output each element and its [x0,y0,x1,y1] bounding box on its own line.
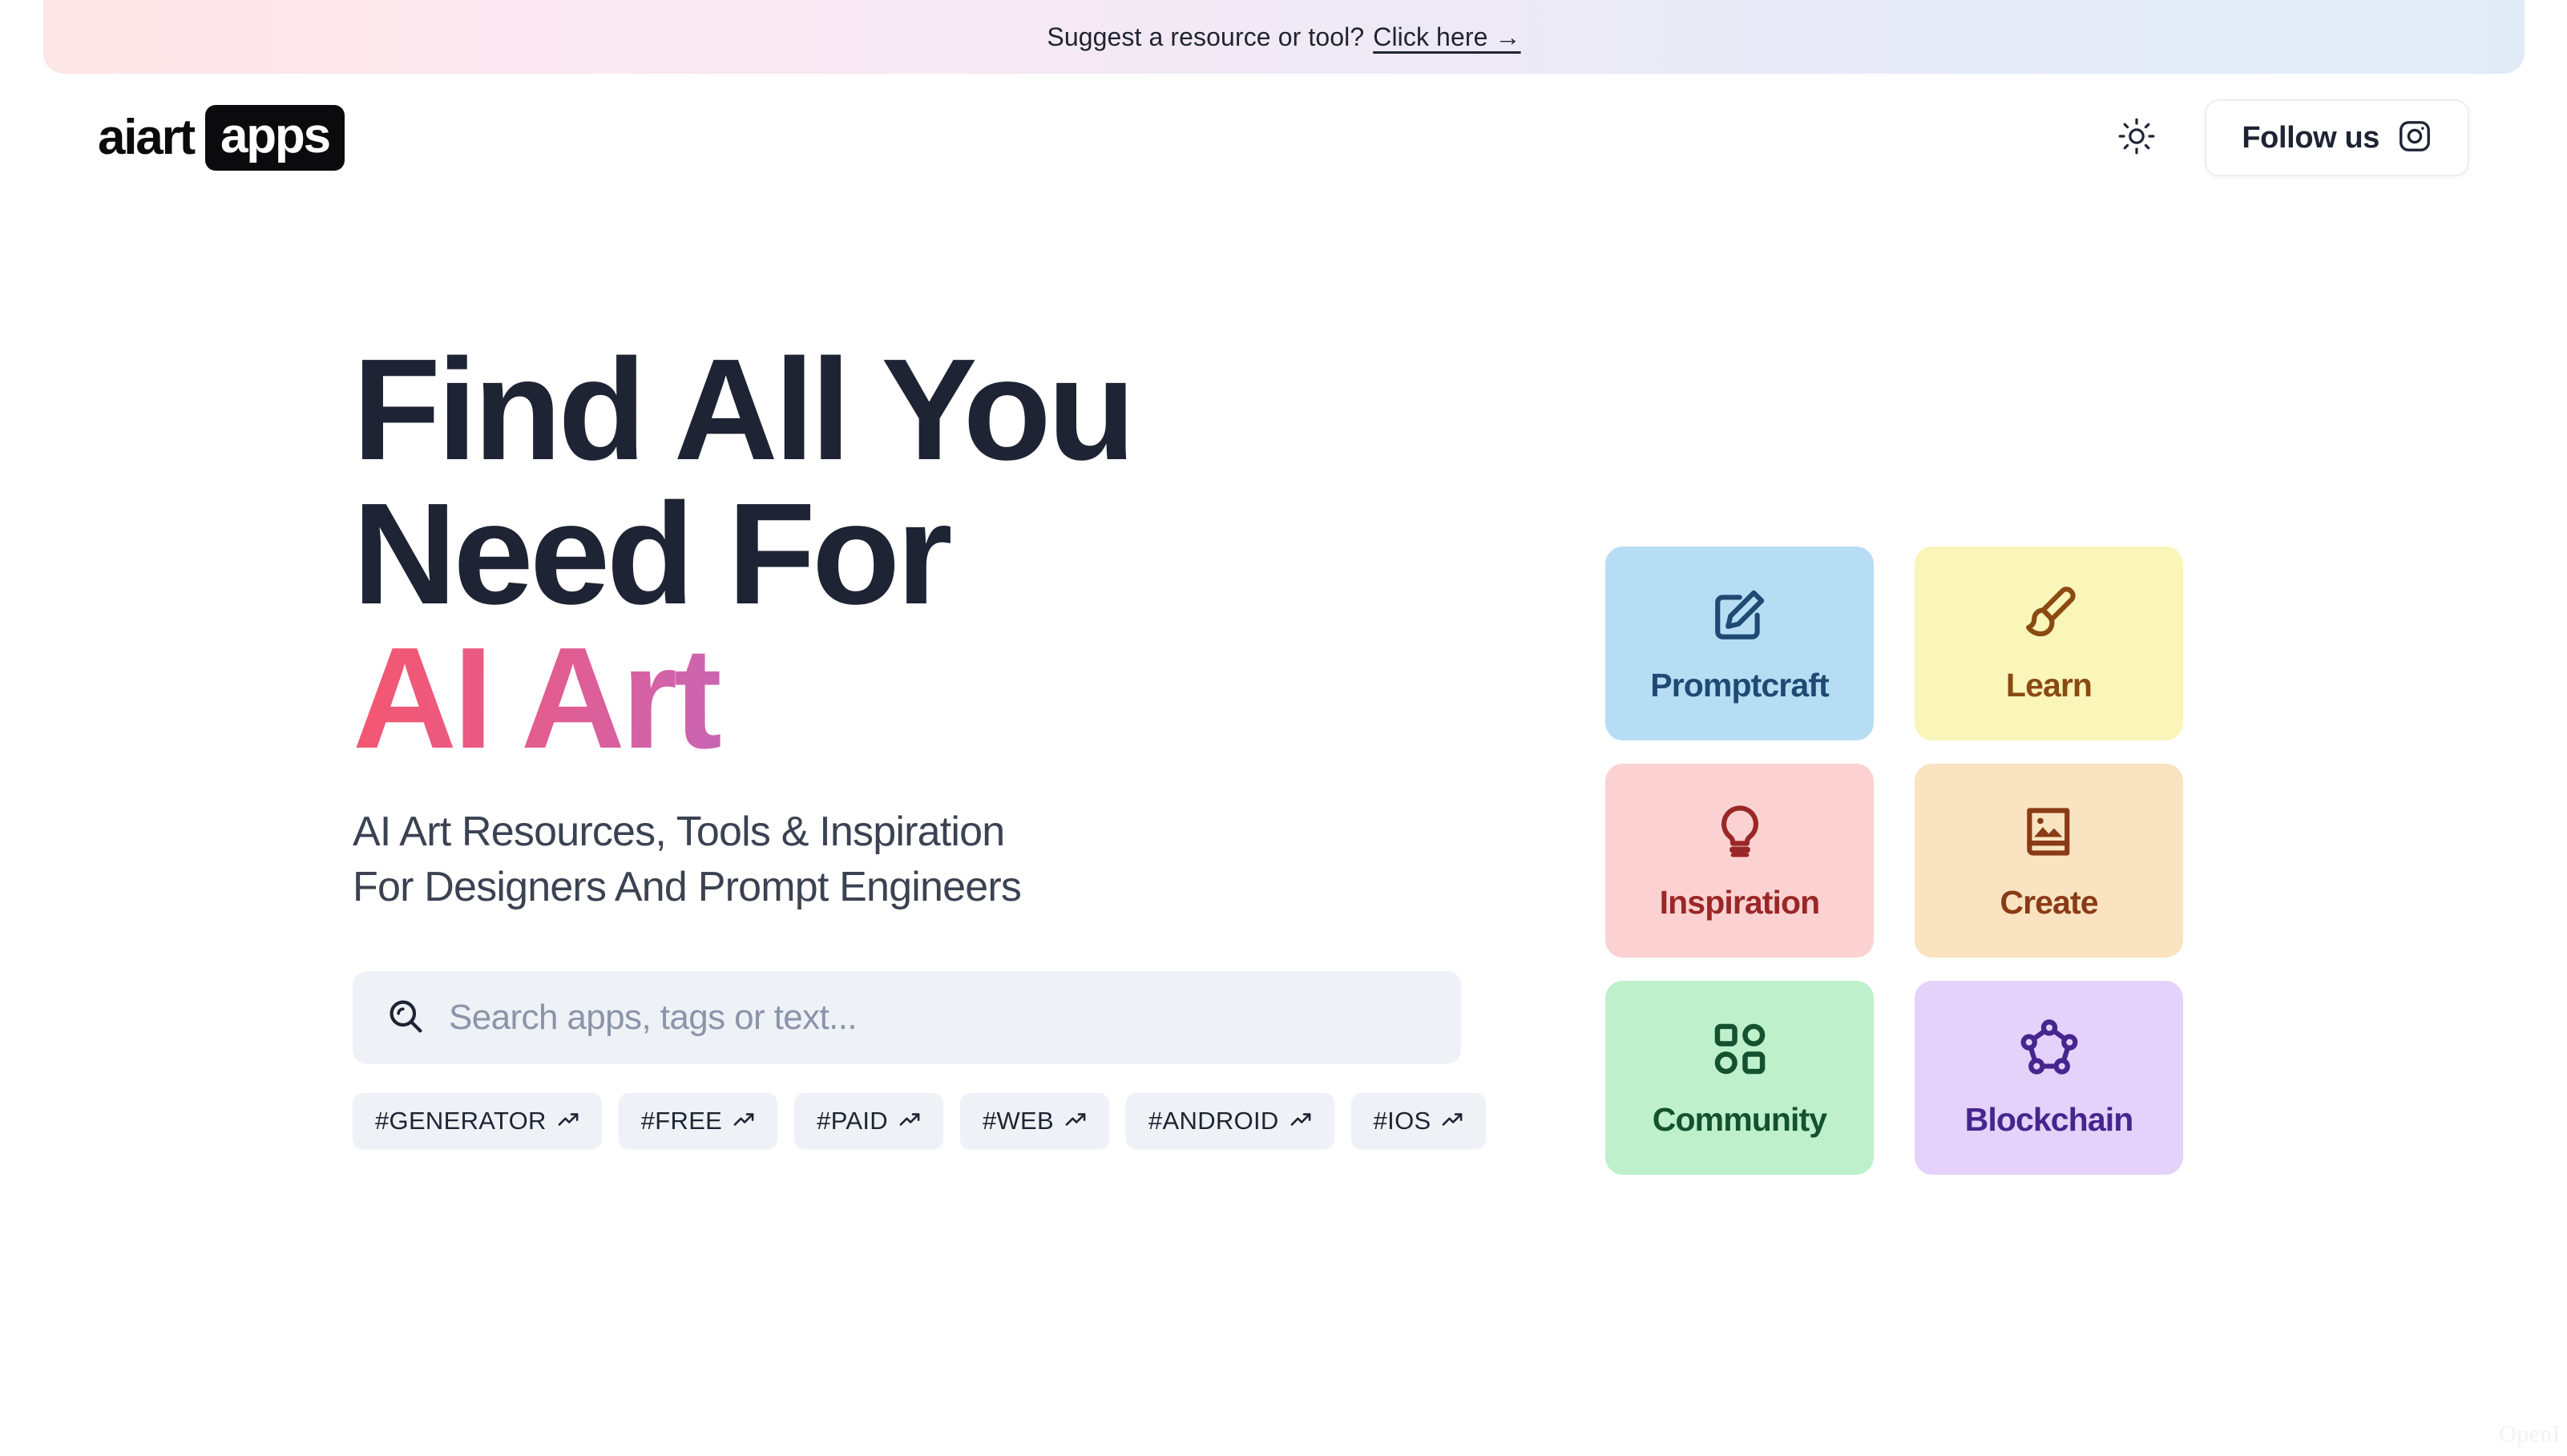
announcement-text: Suggest a resource or tool? Click here → [1047,22,1520,52]
tag-label: #PAID [817,1107,888,1135]
search-input[interactable] [449,998,1427,1038]
watermark: OpenI [2499,1421,2561,1448]
tag-free[interactable]: #FREE [619,1093,777,1149]
search-bar[interactable] [353,971,1461,1064]
header-actions: Follow us [2115,99,2469,176]
category-label: Create [2000,884,2097,922]
category-card-learn[interactable]: Learn [1915,547,2183,740]
category-card-community[interactable]: Community [1605,981,1874,1175]
tag-label: #FREE [641,1107,722,1135]
trending-up-icon [557,1108,579,1135]
page-title: Find All You Need For AI Art [353,338,1491,771]
instagram-icon [2397,119,2432,158]
trending-up-icon [1290,1108,1312,1135]
tag-web[interactable]: #WEB [960,1093,1109,1149]
sun-icon [2117,117,2156,159]
lightbulb-icon [1710,801,1770,863]
hero-title-line-2: Need For [353,482,1491,627]
hero-section: Find All You Need For AI Art AI Art Reso… [353,338,1491,1149]
category-label: Blockchain [1965,1101,2133,1139]
category-label: Community [1653,1101,1826,1139]
tag-label: #WEB [983,1107,1054,1135]
follow-us-label: Follow us [2242,121,2379,155]
tag-label: #IOS [1374,1107,1431,1135]
image-book-icon [2020,801,2079,863]
category-card-promptcraft[interactable]: Promptcraft [1605,547,1874,740]
trending-up-icon [1441,1108,1463,1135]
announcement-banner: Suggest a resource or tool? Click here → [43,0,2525,74]
trending-up-icon [898,1108,921,1135]
category-card-create[interactable]: Create [1915,764,2183,958]
follow-us-button[interactable]: Follow us [2205,99,2469,176]
announcement-message: Suggest a resource or tool? [1047,22,1364,51]
tag-generator[interactable]: #GENERATOR [353,1093,602,1149]
hero-subtitle-line-1: AI Art Resources, Tools & Inspiration [353,805,1491,860]
hero-title-accent: AI Art [353,627,1491,771]
shapes-grid-icon [1710,1018,1770,1080]
site-logo[interactable]: aiart apps [98,103,345,172]
note-pencil-icon [1710,583,1770,646]
site-header: aiart apps Follow us [0,74,2567,202]
logo-badge: apps [205,105,345,171]
category-card-blockchain[interactable]: Blockchain [1915,981,2183,1175]
tag-label: #GENERATOR [375,1107,547,1135]
category-label: Learn [2006,667,2092,704]
category-label: Inspiration [1660,884,1820,922]
network-icon [2020,1018,2079,1080]
hero-title-line-1: Find All You [353,338,1491,482]
tag-label: #ANDROID [1148,1107,1279,1135]
announcement-link[interactable]: Click here → [1373,22,1520,51]
category-label: Promptcraft [1650,667,1828,704]
trending-up-icon [733,1108,755,1135]
main-content: Find All You Need For AI Art AI Art Reso… [0,202,2567,1456]
hero-subtitle: AI Art Resources, Tools & Inspiration Fo… [353,805,1491,915]
tag-paid[interactable]: #PAID [794,1093,943,1149]
hero-subtitle-line-2: For Designers And Prompt Engineers [353,860,1491,915]
category-grid: Promptcraft Learn Inspiration [1605,547,2183,1175]
category-card-inspiration[interactable]: Inspiration [1605,764,1874,958]
tag-android[interactable]: #ANDROID [1126,1093,1334,1149]
theme-toggle-button[interactable] [2115,116,2158,159]
search-icon [386,997,425,1039]
tag-list: #GENERATOR #FREE #PAID [353,1093,1491,1149]
logo-word: aiart [98,113,194,163]
paint-brush-icon [2020,583,2079,646]
trending-up-icon [1064,1108,1087,1135]
tag-ios[interactable]: #IOS [1351,1093,1487,1149]
